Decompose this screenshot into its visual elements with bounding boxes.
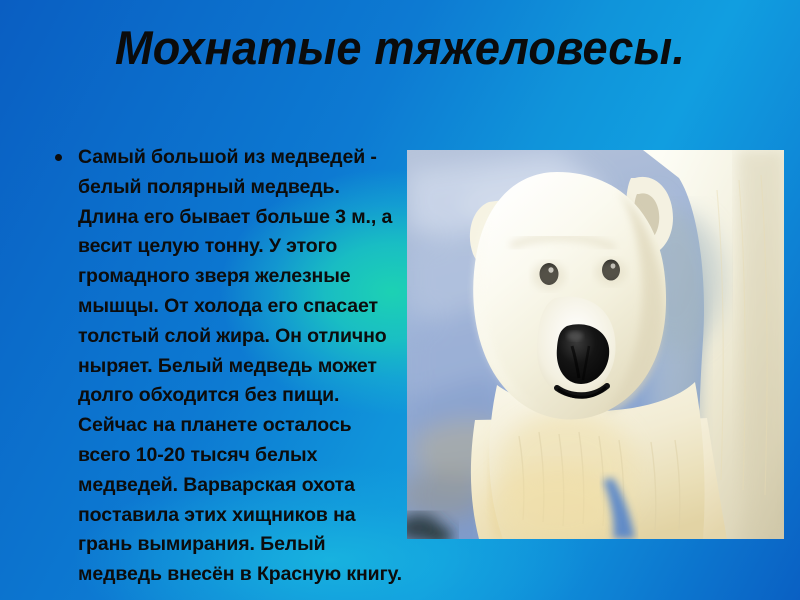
page-title: Мохнатые тяжеловесы. [16, 22, 784, 74]
list-item: Самый большой из медведей - белый полярн… [50, 143, 402, 590]
polar-bear-photo [407, 150, 784, 539]
body-text-block: Самый большой из медведей - белый полярн… [50, 143, 402, 590]
bullet-paragraph: Самый большой из медведей - белый полярн… [78, 143, 402, 590]
presentation-slide: Мохнатые тяжеловесы. Самый большой из ме… [0, 0, 800, 600]
polar-bear-illustration [407, 150, 784, 539]
bullet-dot-icon [55, 154, 62, 161]
